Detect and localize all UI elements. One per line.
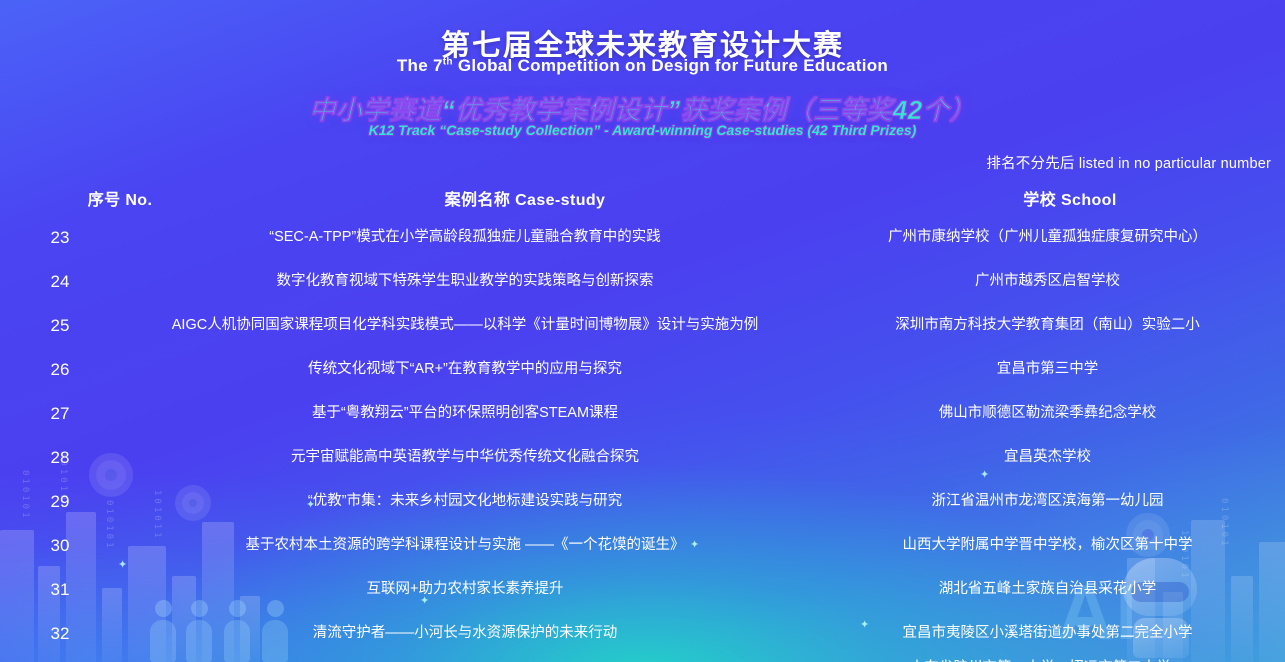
- row-school-name: 湖北省五峰土家族自治县采花小学: [810, 580, 1285, 600]
- row-case-title: 基于农村本土资源的跨学科课程设计与实施 ——《一个花馍的诞生》: [120, 536, 810, 556]
- column-header-school: 学校 School: [870, 186, 1270, 210]
- row-case-title: 基于“粤教翔云”平台的环保照明创客STEAM课程: [120, 404, 810, 424]
- row-school-name: 广州市康纳学校（广州儿童孤独症康复研究中心）: [810, 228, 1285, 248]
- award-table-body: 23“SEC-A-TPP”模式在小学高龄段孤独症儿童融合教育中的实践广州市康纳学…: [0, 216, 1285, 662]
- page-title-en-post: Global Competition on Design for Future …: [453, 56, 888, 75]
- row-number: 32: [0, 624, 120, 644]
- row-number: 31: [0, 580, 120, 600]
- page-title-en: The 7th Global Competition on Design for…: [0, 56, 1285, 76]
- row-number: 30: [0, 536, 120, 556]
- row-number: 24: [0, 272, 120, 292]
- row-number: 27: [0, 404, 120, 424]
- row-case-title: AIGC人机协同国家课程项目化学科实践模式——以科学《计量时间博物展》设计与实施…: [120, 316, 810, 336]
- page-title-en-ordinal: th: [443, 56, 453, 67]
- row-number: 28: [0, 448, 120, 468]
- poster-canvas: 010101 101010 010101 101011 010101 11010…: [0, 0, 1285, 662]
- row-school-name: 佛山市顺德区勒流梁季彝纪念学校: [810, 404, 1285, 424]
- table-row: 23“SEC-A-TPP”模式在小学高龄段孤独症儿童融合教育中的实践广州市康纳学…: [0, 216, 1285, 260]
- table-header: 序号 No. 案例名称 Case-study 学校 School: [0, 186, 1285, 210]
- table-row: 24数字化教育视域下特殊学生职业教学的实践策略与创新探索广州市越秀区启智学校: [0, 260, 1285, 304]
- row-school-name: 宜昌市第三中学: [810, 360, 1285, 380]
- row-school-name: 山西大学附属中学晋中学校，榆次区第十中学: [810, 536, 1285, 556]
- column-header-no: 序号 No.: [60, 186, 180, 210]
- page-subtitle-en: K12 Track “Case-study Collection” - Awar…: [0, 122, 1285, 138]
- row-number: 29: [0, 492, 120, 512]
- row-case-title: 数字化教育视域下特殊学生职业教学的实践策略与创新探索: [120, 272, 810, 292]
- row-number: 25: [0, 316, 120, 336]
- row-case-title: “优教”市集：未来乡村园文化地标建设实践与研究: [120, 492, 810, 512]
- row-school-name: 广州市越秀区启智学校: [810, 272, 1285, 292]
- row-school-name: 深圳市南方科技大学教育集团（南山）实验二小: [810, 316, 1285, 336]
- table-row: 29“优教”市集：未来乡村园文化地标建设实践与研究浙江省温州市龙湾区滨海第一幼儿…: [0, 480, 1285, 524]
- table-row: 27基于“粤教翔云”平台的环保照明创客STEAM课程佛山市顺德区勒流梁季彝纪念学…: [0, 392, 1285, 436]
- row-case-title: 元宇宙赋能高中英语教学与中华优秀传统文化融合探究: [120, 448, 810, 468]
- table-row: 28元宇宙赋能高中英语教学与中华优秀传统文化融合探究宜昌英杰学校: [0, 436, 1285, 480]
- row-school-name: 宜昌英杰学校: [810, 448, 1285, 468]
- row-case-title: 清流守护者——小河长与水资源保护的未来行动: [120, 624, 810, 644]
- table-row: 25AIGC人机协同国家课程项目化学科实践模式——以科学《计量时间博物展》设计与…: [0, 304, 1285, 348]
- row-school-name: 宜昌市夷陵区小溪塔街道办事处第二完全小学: [810, 624, 1285, 644]
- row-number: 23: [0, 228, 120, 248]
- row-case-title: 传统文化视域下“AR+”在教育教学中的应用与探究: [120, 360, 810, 380]
- row-number: 26: [0, 360, 120, 380]
- table-row: 30基于农村本土资源的跨学科课程设计与实施 ——《一个花馍的诞生》山西大学附属中…: [0, 524, 1285, 568]
- table-row: 26传统文化视域下“AR+”在教育教学中的应用与探究宜昌市第三中学: [0, 348, 1285, 392]
- table-row: 32清流守护者——小河长与水资源保护的未来行动宜昌市夷陵区小溪塔街道办事处第二完…: [0, 612, 1285, 656]
- table-row: 33跨学科视域下《历史上的疫病与医学成就》——教育神经科学视角下培养学生创造性的…: [0, 656, 1285, 662]
- row-case-title: 互联网+助力农村家长素养提升: [120, 580, 810, 600]
- row-school-name: 浙江省温州市龙湾区滨海第一幼儿园: [810, 492, 1285, 512]
- table-row: 31互联网+助力农村家长素养提升湖北省五峰土家族自治县采花小学: [0, 568, 1285, 612]
- page-title-en-pre: The 7: [397, 56, 443, 75]
- ranking-note: 排名不分先后 listed in no particular number: [986, 152, 1271, 173]
- row-case-title: “SEC-A-TPP”模式在小学高龄段孤独症儿童融合教育中的实践: [120, 228, 810, 248]
- column-header-case: 案例名称 Case-study: [185, 186, 865, 210]
